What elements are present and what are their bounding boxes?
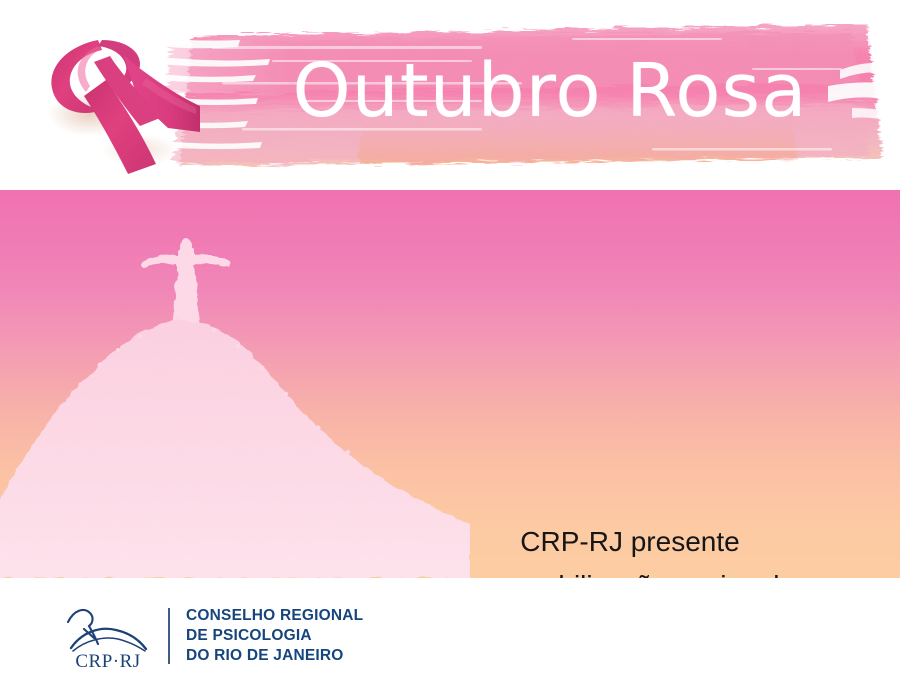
- footer-bar: CRP·RJ CONSELHO REGIONAL DE PSICOLOGIA D…: [0, 578, 900, 694]
- header-band: Outubro Rosa: [0, 0, 900, 190]
- christ-the-redeemer-mountain-silhouette: [0, 190, 470, 578]
- organization-name: CONSELHO REGIONAL DE PSICOLOGIA DO RIO D…: [186, 606, 363, 666]
- crp-rj-wordmark: CRP·RJ: [75, 651, 140, 671]
- outubro-rosa-poster: Outubro Rosa: [0, 0, 900, 694]
- pink-awareness-ribbon-icon: [28, 22, 214, 182]
- org-line-2: DE PSICOLOGIA: [186, 626, 363, 646]
- headline-message: CRP-RJ presente na mobilização nacional …: [430, 520, 830, 578]
- headline-line-2: na mobilização nacional: [430, 564, 830, 578]
- main-visual-panel: CRP-RJ presente na mobilização nacional …: [0, 190, 900, 578]
- brand-divider: [168, 608, 170, 664]
- crp-rj-bird-wave-logo-icon: CRP·RJ: [60, 601, 156, 671]
- watercolor-brush-stroke: [152, 8, 892, 180]
- org-line-1: CONSELHO REGIONAL: [186, 606, 363, 626]
- headline-line-1: CRP-RJ presente: [430, 520, 830, 564]
- crp-rj-brand-block: CRP·RJ CONSELHO REGIONAL DE PSICOLOGIA D…: [60, 600, 363, 672]
- org-line-3: DO RIO DE JANEIRO: [186, 646, 363, 666]
